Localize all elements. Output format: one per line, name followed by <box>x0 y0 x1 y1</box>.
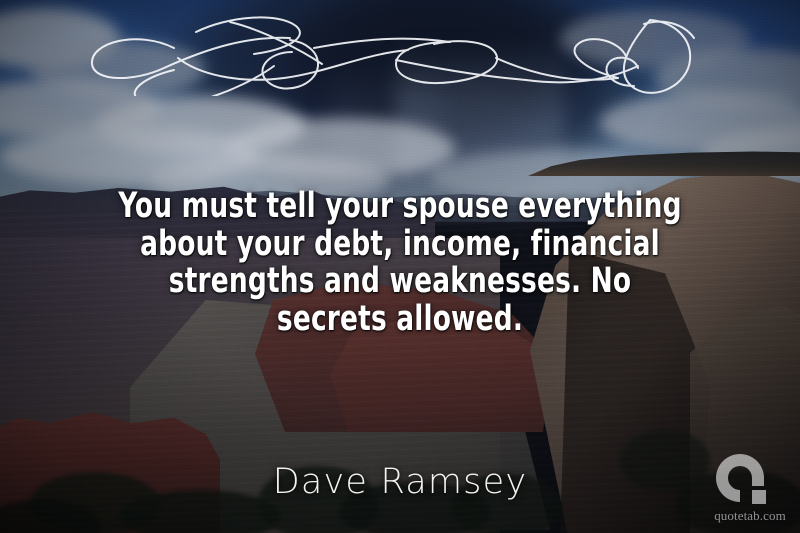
quote-card: You must tell your spouse everything abo… <box>0 0 800 533</box>
flourish-divider-icon <box>78 8 728 96</box>
quotetab-logo-icon[interactable] <box>714 452 772 508</box>
watermark[interactable]: quotetab.com <box>706 452 794 528</box>
watermark-site-label[interactable]: quotetab.com <box>706 508 794 524</box>
quote-text: You must tell your spouse everything abo… <box>111 188 689 338</box>
quote-author: Dave Ramsey <box>0 462 800 502</box>
